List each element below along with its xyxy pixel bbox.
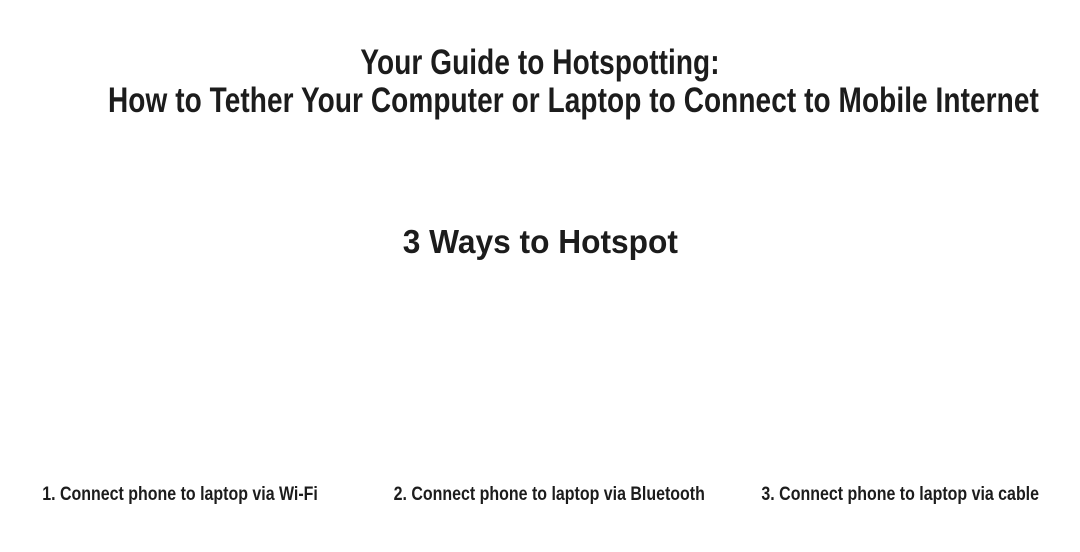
section-heading-label: 3 Ways to Hotspot	[402, 224, 677, 260]
method-item-cable: 3. Connect phone to laptop via cable	[720, 484, 1080, 506]
page-title-line-2: How to Tether Your Computer or Laptop to…	[108, 82, 972, 120]
method-item-wifi: 1. Connect phone to laptop via Wi-Fi	[0, 484, 360, 506]
page-title: Your Guide to Hotspotting: How to Tether…	[0, 44, 1080, 120]
page-title-line-1: Your Guide to Hotspotting:	[108, 44, 972, 82]
illustration-bluetooth	[360, 285, 720, 475]
method-item-bluetooth: 2. Connect phone to laptop via Bluetooth	[360, 484, 720, 506]
method-caption-cable: 3. Connect phone to laptop via cable	[761, 484, 1039, 506]
method-caption-wifi: 1. Connect phone to laptop via Wi-Fi	[42, 484, 318, 506]
illustration-row	[0, 285, 1080, 475]
illustration-wifi	[0, 285, 360, 475]
method-caption-bluetooth: 2. Connect phone to laptop via Bluetooth	[394, 484, 705, 506]
illustration-cable	[720, 285, 1080, 475]
caption-row: 1. Connect phone to laptop via Wi-Fi 2. …	[0, 484, 1080, 506]
infographic-page: Your Guide to Hotspotting: How to Tether…	[0, 0, 1080, 552]
section-heading: 3 Ways to Hotspot	[0, 224, 1080, 260]
